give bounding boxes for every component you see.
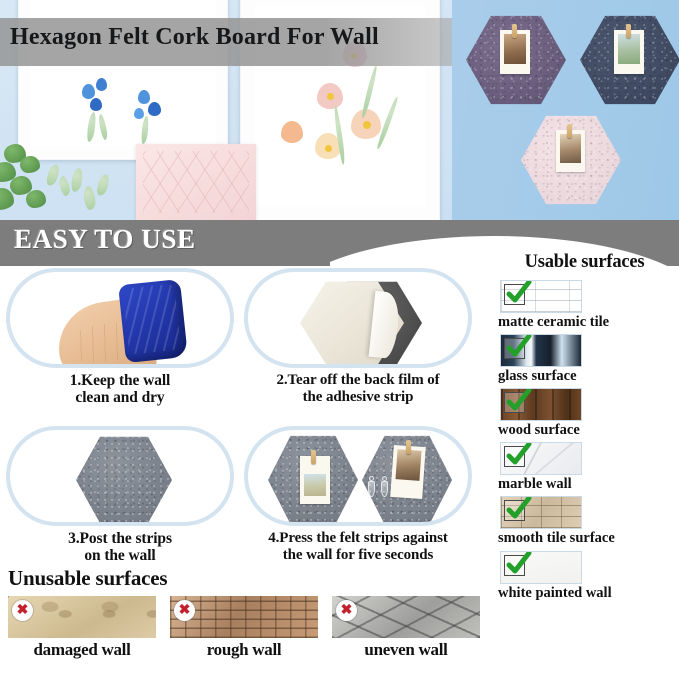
check-icon	[504, 338, 525, 359]
step-1-caption-line2: clean and dry	[6, 389, 234, 406]
step-2-image	[244, 268, 472, 368]
swatch-marble	[500, 442, 582, 475]
step-4-caption: 4.Press the felt strips against the wall…	[244, 530, 472, 564]
page-title: Hexagon Felt Cork Board For Wall	[10, 24, 450, 51]
usable-item-matte-ceramic-tile: matte ceramic tile	[490, 280, 679, 331]
clothespin-step4-2	[406, 440, 411, 454]
unusable-item-damaged-wall: ✖ damaged wall	[8, 596, 156, 660]
usable-item-glass-surface: glass surface	[490, 334, 679, 385]
swatch-white-paint	[500, 551, 582, 584]
clothespin-1	[512, 24, 517, 38]
unusable-label-0: damaged wall	[8, 640, 156, 660]
step-1: 1.Keep the wall clean and dry	[6, 268, 234, 407]
unusable-item-rough-wall: ✖ rough wall	[170, 596, 318, 660]
step-3-caption-line1: 3.Post the strips	[6, 530, 234, 547]
swatch-ceramic-tile	[500, 280, 582, 313]
x-icon: ✖	[174, 600, 195, 621]
swatch-uneven-wall: ✖	[332, 596, 480, 638]
step-1-image	[6, 268, 234, 368]
product-infographic: Hexagon Felt Cork Board For Wall EASY TO…	[0, 0, 679, 678]
step-4-caption-line1: 4.Press the felt strips against	[244, 530, 472, 547]
step-4: 4.Press the felt strips against the wall…	[244, 426, 472, 564]
swatch-stone-tile	[500, 496, 582, 529]
unusable-surfaces-section: Unusable surfaces ✖ damaged wall ✖ rough…	[8, 566, 488, 660]
step-1-caption: 1.Keep the wall clean and dry	[6, 372, 234, 407]
check-icon	[504, 446, 525, 467]
swatch-rough-wall: ✖	[170, 596, 318, 638]
step-2-caption-line2: the adhesive strip	[244, 389, 472, 406]
earring-right	[381, 476, 388, 498]
steps-section: 1.Keep the wall clean and dry 2.Tear off…	[0, 268, 482, 558]
step-2: 2.Tear off the back film of the adhesive…	[244, 268, 472, 406]
unusable-surfaces-title: Unusable surfaces	[8, 566, 488, 591]
hexagon-film-peel-illustration	[300, 280, 424, 366]
unusable-label-2: uneven wall	[332, 640, 480, 660]
step-3-image	[6, 426, 234, 526]
x-icon: ✖	[12, 600, 33, 621]
x-icon: ✖	[336, 600, 357, 621]
clothespin-step4-1	[311, 450, 316, 464]
unusable-item-uneven-wall: ✖ uneven wall	[332, 596, 480, 660]
hero-lifestyle-photo: Hexagon Felt Cork Board For Wall	[0, 0, 679, 220]
step-3: 3.Post the strips on the wall	[6, 426, 234, 565]
earring-left	[368, 476, 375, 498]
usable-label-3: marble wall	[498, 476, 679, 493]
usable-label-0: matte ceramic tile	[498, 314, 679, 331]
step-1-caption-line1: 1.Keep the wall	[6, 372, 234, 389]
step-3-caption: 3.Post the strips on the wall	[6, 530, 234, 565]
step-3-caption-line2: on the wall	[6, 547, 234, 564]
step-4-caption-line2: the wall for five seconds	[244, 547, 472, 564]
usable-item-white-painted-wall: white painted wall	[490, 551, 679, 602]
felt-hexagon-icon	[76, 435, 172, 525]
usable-item-smooth-tile-surface: smooth tile surface	[490, 496, 679, 547]
swatch-wood	[500, 388, 582, 421]
check-icon	[504, 500, 525, 521]
pink-felt-board-leaning	[136, 144, 256, 220]
usable-surfaces-title: Usable surfaces	[490, 252, 679, 273]
step-2-caption: 2.Tear off the back film of the adhesive…	[244, 372, 472, 406]
usable-label-2: wood surface	[498, 422, 679, 439]
easy-to-use-heading: EASY TO USE	[14, 224, 196, 255]
clothespin-3	[567, 124, 572, 138]
eucalyptus-plant	[0, 142, 126, 220]
swatch-damaged-wall: ✖	[8, 596, 156, 638]
check-icon	[504, 284, 525, 305]
unusable-label-1: rough wall	[170, 640, 318, 660]
swatch-glass	[500, 334, 582, 367]
usable-item-marble-wall: marble wall	[490, 442, 679, 493]
step-4-image	[244, 426, 472, 526]
usable-item-wood-surface: wood surface	[490, 388, 679, 439]
check-icon	[504, 555, 525, 576]
usable-label-4: smooth tile surface	[498, 530, 679, 547]
usable-label-1: glass surface	[498, 368, 679, 385]
usable-label-5: white painted wall	[498, 585, 679, 602]
blue-cloth-icon	[118, 279, 188, 363]
check-icon	[504, 392, 525, 413]
usable-surfaces-section: Usable surfaces matte ceramic tile glass…	[490, 252, 679, 605]
step-2-caption-line1: 2.Tear off the back film of	[244, 372, 472, 389]
clothespin-2	[626, 24, 631, 38]
